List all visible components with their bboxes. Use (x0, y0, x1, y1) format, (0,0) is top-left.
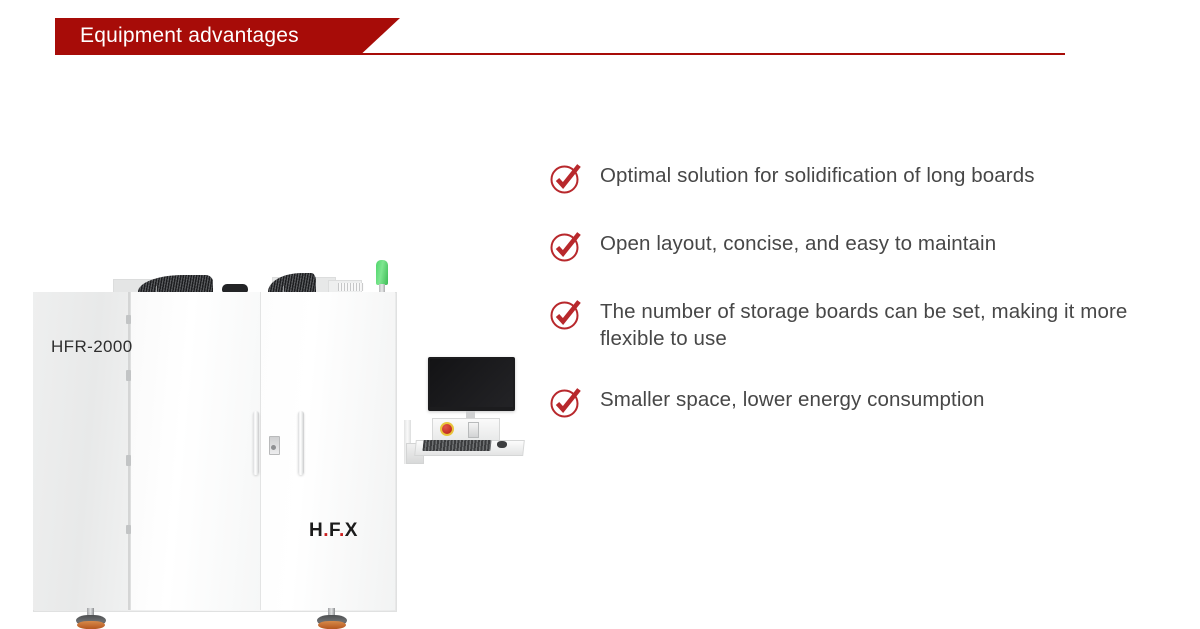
feature-text: The number of storage boards can be set,… (600, 296, 1170, 352)
roof-fan-shroud-right (268, 273, 316, 292)
door-lock (269, 436, 280, 455)
circle-check-icon (548, 384, 584, 420)
machine-model-label: HFR-2000 (51, 337, 133, 357)
operator-monitor-screen (430, 359, 513, 407)
roof-vent-grille (338, 283, 364, 291)
emergency-stop-button (442, 424, 452, 434)
door-panel-middle (131, 292, 261, 610)
brand-letter-h: H (309, 520, 323, 541)
page-title: Equipment advantages (80, 18, 299, 55)
brand-letter-x: X (345, 520, 358, 541)
feature-list: Optimal solution for solidification of l… (548, 160, 1178, 452)
circle-check-icon (548, 296, 584, 332)
operator-mouse (497, 441, 507, 448)
door-hinge (126, 370, 131, 381)
circle-check-icon (548, 228, 584, 264)
door-panel-right (261, 292, 395, 610)
circle-check-icon (548, 160, 584, 196)
tower-light-green (376, 260, 388, 285)
door-hinge (126, 525, 131, 534)
feature-item: Open layout, concise, and easy to mainta… (548, 228, 1178, 264)
operator-keyboard (422, 440, 491, 451)
door-handle-right (298, 411, 304, 475)
foot-ring (318, 621, 346, 629)
feature-text: Smaller space, lower energy consumption (600, 384, 984, 413)
feature-item: Optimal solution for solidification of l… (548, 160, 1178, 196)
door-hinge (126, 455, 131, 466)
header-divider-rule (350, 53, 1065, 55)
feature-item: Smaller space, lower energy consumption (548, 384, 1178, 420)
brand-letter-f: F (329, 520, 339, 541)
brand-logo: H.F.X (309, 520, 358, 542)
feature-item: The number of storage boards can be set,… (548, 296, 1178, 352)
page-header: Equipment advantages (0, 0, 1200, 72)
machine-product-photo: HFR-2000 H.F.X (0, 120, 540, 530)
foot-ring (77, 621, 105, 629)
feature-text: Open layout, concise, and easy to mainta… (600, 228, 996, 257)
feature-text: Optimal solution for solidification of l… (600, 160, 1035, 189)
door-handle-left (253, 411, 259, 475)
control-panel-switch (468, 422, 479, 438)
door-hinge (126, 315, 131, 324)
roof-fan-shroud-left (138, 275, 213, 292)
